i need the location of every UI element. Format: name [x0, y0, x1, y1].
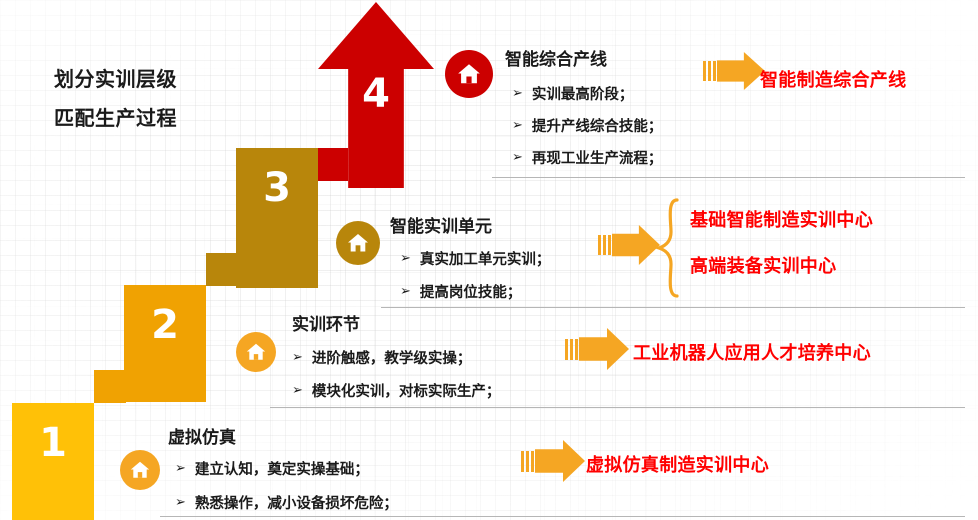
arrow-head-icon: [535, 440, 585, 482]
step-connector-2-3: [206, 253, 238, 286]
level-separator-2: [270, 407, 965, 408]
page-title-line-1: 划分实训层级: [54, 60, 177, 99]
grouping-brace-icon: [655, 198, 681, 298]
bullet-text: 真实加工单元实训；: [420, 248, 551, 269]
chevron-right-icon: ➢: [292, 351, 303, 364]
arrow-head-icon: [579, 328, 629, 370]
level-bullet-2-2: ➢ 模块化实训，对标实际生产；: [292, 380, 500, 401]
staircase-step-4-up-arrow[interactable]: 4: [318, 2, 434, 188]
chevron-right-icon: ➢: [400, 285, 411, 298]
page-title: 划分实训层级 匹配生产过程: [54, 60, 177, 138]
level-title-4: 智能综合产线: [505, 45, 607, 70]
level-bullet-2-1: ➢ 进阶触感，教学级实操；: [292, 347, 471, 368]
outcome-label-4: 智能制造综合产线: [760, 66, 906, 92]
chevron-right-icon: ➢: [400, 252, 411, 265]
chevron-right-icon: ➢: [512, 151, 523, 164]
bullet-text: 实训最高阶段；: [532, 83, 634, 104]
home-icon-4[interactable]: [445, 50, 493, 98]
level-bullet-3-2: ➢ 提高岗位技能；: [400, 281, 521, 302]
chevron-right-icon: ➢: [175, 462, 186, 475]
outcome-label-3-1: 基础智能制造实训中心: [690, 206, 873, 232]
arrow-tail-bars: [703, 61, 716, 81]
staircase-step-3[interactable]: 3: [236, 148, 318, 288]
arrow-tail-bars: [565, 339, 578, 360]
arrow-head-icon: [717, 52, 765, 90]
level-bullet-4-3: ➢ 再现工业生产流程；: [512, 147, 662, 168]
home-icon-2[interactable]: [236, 332, 276, 372]
level-separator-4: [492, 177, 965, 178]
outcome-label-1: 虚拟仿真制造实训中心: [586, 451, 769, 477]
arrow-head-icon: [612, 225, 660, 265]
step-number-1: 1: [39, 403, 67, 463]
step-number-4: 4: [318, 74, 434, 114]
slide-canvas: 1 2 3 4 划分实训层级 匹配生产过程 智能综合产线 ➢ 实训最高阶段； ➢…: [0, 0, 978, 520]
outcome-label-3-2: 高端装备实训中心: [690, 252, 836, 278]
level-separator-3: [381, 307, 965, 308]
bullet-text: 提高岗位技能；: [420, 281, 522, 302]
chevron-right-icon: ➢: [512, 87, 523, 100]
flow-arrow-2: [565, 328, 629, 370]
level-separator-1: [160, 516, 965, 517]
outcome-label-2: 工业机器人应用人才培养中心: [633, 339, 871, 365]
bullet-text: 提升产线综合技能；: [532, 115, 663, 136]
bullet-text: 熟悉操作，减小设备损坏危险；: [195, 492, 398, 513]
chevron-right-icon: ➢: [175, 496, 186, 509]
staircase-step-2[interactable]: 2: [124, 285, 206, 402]
level-bullet-4-2: ➢ 提升产线综合技能；: [512, 115, 662, 136]
level-bullet-4-1: ➢ 实训最高阶段；: [512, 83, 633, 104]
flow-arrow-4: [703, 52, 765, 90]
level-title-3: 智能实训单元: [390, 212, 492, 237]
level-bullet-3-1: ➢ 真实加工单元实训；: [400, 248, 550, 269]
home-icon-3[interactable]: [336, 221, 380, 265]
flow-arrow-1: [521, 440, 585, 482]
chevron-right-icon: ➢: [292, 384, 303, 397]
staircase-step-1[interactable]: 1: [12, 403, 94, 520]
bullet-text: 再现工业生产流程；: [532, 147, 663, 168]
home-icon-1[interactable]: [120, 450, 160, 490]
flow-arrow-3: [598, 225, 660, 265]
level-title-2: 实训环节: [292, 310, 360, 335]
step-number-3: 3: [263, 148, 291, 208]
level-bullet-1-1: ➢ 建立认知，奠定实操基础；: [175, 458, 369, 479]
chevron-right-icon: ➢: [512, 119, 523, 132]
page-title-line-2: 匹配生产过程: [54, 99, 177, 138]
step-connector-1-2: [94, 370, 126, 403]
bullet-text: 进阶触感，教学级实操；: [312, 347, 472, 368]
level-bullet-1-2: ➢ 熟悉操作，减小设备损坏危险；: [175, 492, 398, 513]
arrow-tail-bars: [598, 235, 611, 255]
bullet-text: 建立认知，奠定实操基础；: [195, 458, 369, 479]
arrow-tail-bars: [521, 451, 534, 472]
bullet-text: 模块化实训，对标实际生产；: [312, 380, 501, 401]
step-number-2: 2: [151, 285, 179, 345]
level-title-1: 虚拟仿真: [168, 423, 236, 448]
